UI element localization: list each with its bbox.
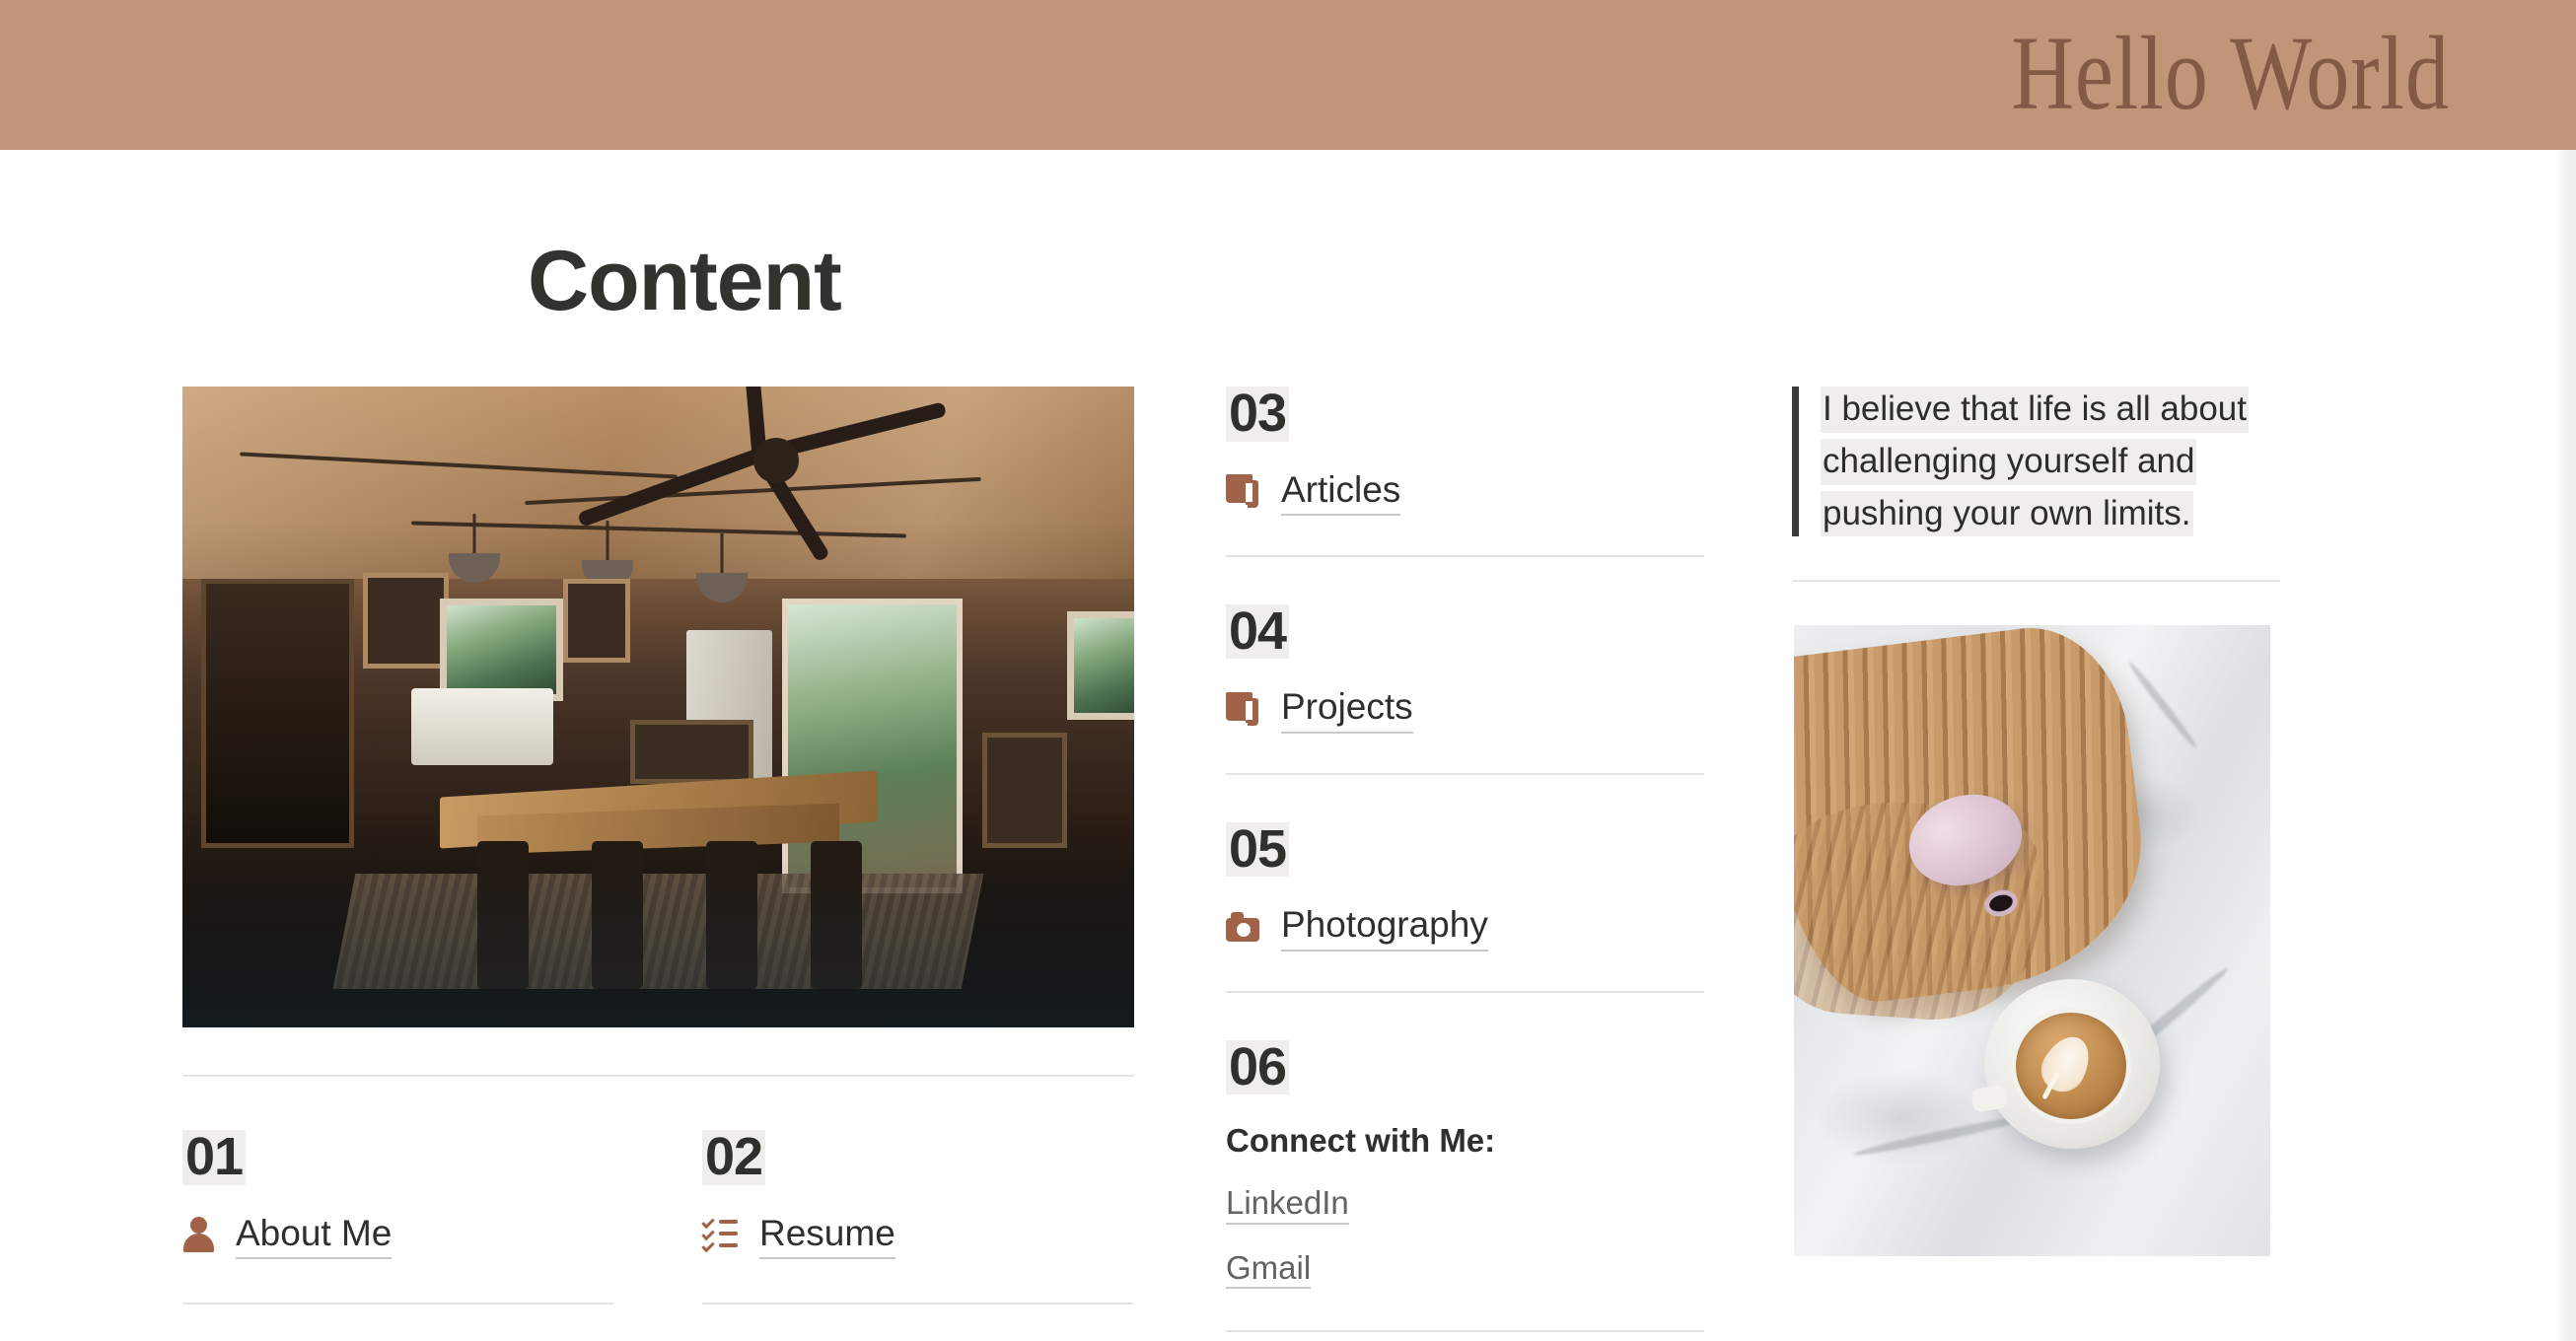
entry-label-photography[interactable]: Photography — [1281, 902, 1488, 951]
entry-link-row[interactable]: Resume — [702, 1211, 1133, 1259]
entry-link-row[interactable]: Photography — [1226, 902, 1704, 951]
right-column: I believe that life is all about challen… — [1792, 387, 2280, 1256]
spacer — [1226, 993, 1704, 1040]
site-title: Hello World — [2011, 22, 2450, 127]
base-cabinet — [630, 720, 753, 784]
interior-door — [201, 579, 353, 848]
wall-cabinet — [363, 573, 449, 670]
cart-shelf — [982, 733, 1068, 848]
floor-reflection — [182, 861, 1134, 1027]
entry-label-resume[interactable]: Resume — [759, 1211, 895, 1259]
quote-line: pushing your own limits. — [1821, 491, 2193, 537]
spacer — [1226, 557, 1704, 604]
wall-cabinet — [563, 579, 630, 663]
entry-number: 02 — [702, 1130, 765, 1185]
entry-number: 06 — [1226, 1040, 1289, 1095]
entry-link-row[interactable]: Articles — [1226, 467, 1704, 516]
quote-line: challenging yourself and — [1821, 439, 2196, 485]
connect-heading: Connect with Me: — [1226, 1122, 1704, 1160]
entry-link-row[interactable]: About Me — [182, 1211, 613, 1259]
page-body: Content — [0, 150, 2576, 1341]
entry-photography: 05 Photography — [1226, 822, 1704, 993]
connect-divider — [1226, 1330, 1704, 1332]
side-window — [1067, 611, 1134, 721]
quote-text: I believe that life is all about challen… — [1821, 387, 2249, 536]
left-entries-grid: 01 About Me 02 — [182, 1130, 1134, 1305]
pendant-lamp — [696, 573, 748, 602]
left-photo-divider — [182, 1075, 1134, 1077]
kitchen-window — [440, 599, 563, 701]
entry-label-articles[interactable]: Articles — [1281, 467, 1400, 516]
page-title: Content — [528, 239, 841, 323]
entry-about-me: 01 About Me — [182, 1130, 613, 1305]
camera-icon — [1226, 912, 1259, 942]
marble-vein — [2126, 660, 2199, 750]
link-gmail[interactable]: Gmail — [1226, 1248, 1311, 1290]
entry-divider — [182, 1303, 613, 1305]
room-photo-scene — [182, 387, 1134, 1027]
entry-articles: 03 Articles — [1226, 387, 1704, 557]
farmhouse-sink — [411, 688, 554, 765]
link-linkedin[interactable]: LinkedIn — [1226, 1183, 1349, 1225]
person-icon — [182, 1217, 214, 1252]
ceiling-fan-hub — [753, 438, 799, 483]
sliding-glass-door — [782, 599, 963, 893]
entry-number: 03 — [1226, 387, 1289, 442]
entry-label-about-me[interactable]: About Me — [236, 1211, 392, 1259]
entry-label-projects[interactable]: Projects — [1281, 684, 1413, 733]
left-column: 01 About Me 02 — [182, 387, 1134, 1305]
book-icon — [1226, 692, 1259, 726]
entry-projects: 04 Projects — [1226, 604, 1704, 775]
social-links: LinkedIn Gmail — [1226, 1160, 1704, 1289]
room-photo — [182, 387, 1134, 1027]
entry-number: 01 — [182, 1130, 246, 1185]
quote-line: I believe that life is all about — [1821, 387, 2249, 433]
spacer — [1226, 775, 1704, 822]
entry-number: 05 — [1226, 822, 1289, 878]
entry-connect: 06 Connect with Me: LinkedIn Gmail — [1226, 1040, 1704, 1333]
quote-block: I believe that life is all about challen… — [1792, 387, 2280, 536]
entry-divider — [702, 1303, 1133, 1305]
checklist-icon — [702, 1218, 738, 1251]
quote-divider — [1792, 580, 2280, 582]
book-icon — [1226, 474, 1259, 508]
header-banner: Hello World — [0, 0, 2576, 150]
entry-link-row[interactable]: Projects — [1226, 684, 1704, 733]
quote-accent-bar — [1792, 387, 1799, 536]
entry-resume: 02 Resume — [702, 1130, 1133, 1305]
vertical-scrollbar[interactable] — [2554, 150, 2576, 1341]
coffee-photo-scene — [1794, 625, 2270, 1256]
middle-column: 03 Articles 04 — [1226, 387, 1704, 1332]
entry-number: 04 — [1226, 604, 1289, 660]
coffee-photo — [1794, 625, 2270, 1256]
page-root: Hello World Content — [0, 0, 2576, 1341]
